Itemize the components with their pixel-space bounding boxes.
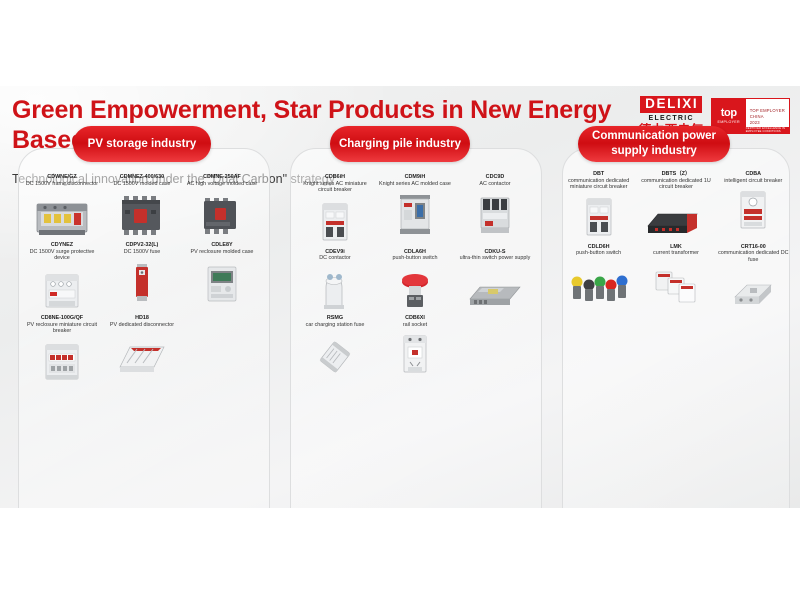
product-caption: CDPV2-32(L) DC 1500V fuse xyxy=(124,242,161,255)
product-code: CDB6iH xyxy=(297,174,373,181)
product-code: CDLA6H xyxy=(393,249,438,256)
product-grid-communication-power: DBT communication dedicated miniature ci… xyxy=(560,171,792,317)
mcb-2pole-icon xyxy=(318,197,352,245)
molded-case-gray-icon xyxy=(395,190,435,238)
product-card[interactable]: CDB6XI rail socket xyxy=(375,315,455,377)
product-card[interactable]: CDMNE-250AF AC high voltage molded case xyxy=(182,174,262,238)
pv-fuse-icon xyxy=(128,258,156,304)
product-desc: communication dedicated 1U circuit break… xyxy=(641,178,711,191)
product-code: CDPV2-32(L) xyxy=(124,242,161,249)
product-card[interactable]: CDC9D AC contactor xyxy=(455,174,535,245)
product-code: HD18 xyxy=(110,315,174,322)
product-code: CDMNE-250AF xyxy=(187,174,257,181)
product-desc: DC 1500V surge protective device xyxy=(30,249,95,262)
product-desc: communication dedicated miniature circui… xyxy=(568,178,629,191)
product-caption: CDLE8Y PV reclosure molded case xyxy=(191,242,254,255)
mcb-4pole-icon xyxy=(39,338,85,384)
product-code: CRT16-00 xyxy=(717,244,790,251)
cylindrical-fuse-icon xyxy=(315,331,355,377)
product-desc: DC 1500V fuse xyxy=(124,249,161,255)
product-card[interactable]: CDWNE/GZ DC 1500V frame disconnector xyxy=(22,174,102,238)
product-code: CDWNE/GZ xyxy=(26,174,98,181)
product-card[interactable]: CDBA intelligent circuit breaker xyxy=(715,171,792,240)
product-desc: push-button switch xyxy=(393,255,438,261)
product-card[interactable]: CDMNEZ-400/630 DC 1500V molded case xyxy=(102,174,182,238)
product-card[interactable]: CDLE8Y PV reclosure molded case xyxy=(182,242,262,311)
product-desc: current transformer xyxy=(653,250,699,256)
product-caption: CRT16-00 communication dedicated DC fuse xyxy=(717,244,790,264)
product-caption: CDWNE/GZ DC 1500V frame disconnector xyxy=(26,174,98,187)
section-header-communication-power[interactable]: Communication power supply industry xyxy=(578,126,730,162)
badge-top-text: top xyxy=(721,108,737,119)
product-grid-charging-pile: CDB6iH Knight series AC miniature circui… xyxy=(295,174,535,381)
product-desc: Knight series AC miniature circuit break… xyxy=(303,181,367,194)
product-caption: CDLA6H push-button switch xyxy=(393,249,438,262)
product-card[interactable]: CDYNEZ DC 1500V surge protective device xyxy=(22,242,102,311)
product-desc: rail socket xyxy=(403,322,427,328)
hd18-disconnector-icon xyxy=(114,331,170,377)
product-code: CDC9D xyxy=(479,174,510,181)
product-caption: LMK current transformer xyxy=(653,244,699,257)
molded-case-dark2-icon xyxy=(199,190,245,238)
product-code: CDEV9i xyxy=(319,249,350,256)
product-caption: CDYNEZ DC 1500V surge protective device xyxy=(24,242,100,262)
product-card[interactable]: RSMG car charging station fuse xyxy=(295,315,375,377)
product-caption: CDLD6H push-button switch xyxy=(576,244,621,257)
product-desc: Knight series AC molded case xyxy=(379,181,451,187)
product-caption: CDB6XI rail socket xyxy=(403,315,427,328)
current-transformer-icon xyxy=(652,260,700,306)
product-code: CDB6XI xyxy=(403,315,427,322)
product-card[interactable]: HD18 PV dedicated disconnector xyxy=(102,315,182,384)
section-header-pv-storage[interactable]: PV storage industry xyxy=(73,126,211,162)
product-card[interactable]: LMK current transformer xyxy=(637,244,714,313)
section-header-charging-pile[interactable]: Charging pile industry xyxy=(330,126,470,162)
product-code: RSMG xyxy=(306,315,365,322)
power-supply-icon xyxy=(466,265,524,311)
indicator-lamps-icon xyxy=(568,260,630,306)
product-caption: CDBA intelligent circuit breaker xyxy=(724,171,782,184)
industry-panels: PV storage industry Charging pile indust… xyxy=(0,126,800,508)
product-code: CDLE8Y xyxy=(191,242,254,249)
product-desc: communication dedicated DC fuse xyxy=(718,250,788,263)
product-code: CD8NE-100G/QF xyxy=(24,315,100,322)
rack-1u-breaker-icon xyxy=(645,194,707,240)
ac-contactor-icon xyxy=(473,190,517,238)
product-card[interactable]: CDKU-S ultra-thin switch power supply xyxy=(455,249,535,311)
product-caption: CDC9D AC contactor xyxy=(479,174,510,187)
frame-disconnector-icon xyxy=(33,190,91,238)
product-card[interactable]: DBT communication dedicated miniature ci… xyxy=(560,171,637,240)
product-desc: intelligent circuit breaker xyxy=(724,178,782,184)
product-desc: PV reclosure molded case xyxy=(191,249,254,255)
product-desc: AC high voltage molded case xyxy=(187,181,257,187)
smart-breaker-icon xyxy=(736,187,770,233)
product-code: CDMNEZ-400/630 xyxy=(114,174,171,181)
badge-line-1: TOP EMPLOYER xyxy=(750,108,785,113)
mushroom-button-icon xyxy=(397,265,433,311)
product-card[interactable]: CDPV2-32(L) DC 1500V fuse xyxy=(102,242,182,311)
product-desc: car charging station fuse xyxy=(306,322,365,328)
product-desc: DC 1500V frame disconnector xyxy=(26,181,98,187)
mcb-2pole-b-icon xyxy=(582,194,616,240)
product-desc: AC contactor xyxy=(479,181,510,187)
delixi-wordmark: DELIXI xyxy=(640,96,702,113)
product-desc: DC contactor xyxy=(319,255,350,261)
slide-canvas: Green Empowerment, Star Products in New … xyxy=(0,86,800,508)
product-card[interactable]: CDM9iH Knight series AC molded case xyxy=(375,174,455,245)
rail-socket-icon xyxy=(397,331,433,377)
product-code: CDBA xyxy=(724,171,782,178)
product-caption: DBT communication dedicated miniature ci… xyxy=(562,171,635,191)
product-card[interactable]: CDLA6H push-button switch xyxy=(375,249,455,311)
product-desc: PV reclosure miniature circuit breaker xyxy=(27,322,97,335)
product-code: LMK xyxy=(653,244,699,251)
reclosure-molded-icon xyxy=(202,258,242,304)
badge-line-2: CHINA xyxy=(750,114,785,119)
product-caption: CDMNEZ-400/630 DC 1500V molded case xyxy=(114,174,171,187)
product-code: CDLD6H xyxy=(576,244,621,251)
badge-line-3: 2023 xyxy=(750,120,785,125)
product-card[interactable]: DBTS（Z） communication dedicated 1U circu… xyxy=(637,171,714,240)
product-code: DBT xyxy=(562,171,635,178)
product-card[interactable]: CD8NE-100G/QF PV reclosure miniature cir… xyxy=(22,315,102,384)
badge-employer-text: EMPLOYER xyxy=(718,121,740,125)
product-caption: CDM9iH Knight series AC molded case xyxy=(379,174,451,187)
product-desc: DC 1500V molded case xyxy=(114,181,171,187)
surge-protector-icon xyxy=(38,265,86,311)
product-caption: DBTS（Z） communication dedicated 1U circu… xyxy=(639,171,712,191)
product-desc: ultra-thin switch power supply xyxy=(460,255,531,261)
product-grid-pv-storage: CDWNE/GZ DC 1500V frame disconnector xyxy=(22,174,262,388)
product-caption: CDKU-S ultra-thin switch power supply xyxy=(460,249,531,262)
product-caption: RSMG car charging station fuse xyxy=(306,315,365,328)
product-caption: CDB6iH Knight series AC miniature circui… xyxy=(297,174,373,194)
product-caption: CD8NE-100G/QF PV reclosure miniature cir… xyxy=(24,315,100,335)
product-card[interactable]: CDLD6H push-button switch xyxy=(560,244,637,313)
molded-case-dark-icon xyxy=(117,190,167,238)
product-caption: CDMNE-250AF AC high voltage molded case xyxy=(187,174,257,187)
dc-contactor-icon xyxy=(314,265,356,311)
product-card[interactable]: CRT16-00 communication dedicated DC fuse xyxy=(715,244,792,313)
dc-fuse-block-icon xyxy=(729,267,777,313)
product-desc: PV dedicated disconnector xyxy=(110,322,174,328)
product-code: CDKU-S xyxy=(460,249,531,256)
delixi-subtext: ELECTRIC xyxy=(648,115,693,122)
product-desc: push-button switch xyxy=(576,250,621,256)
product-code: CDM9iH xyxy=(379,174,451,181)
product-caption: CDEV9i DC contactor xyxy=(319,249,350,262)
product-code: DBTS（Z） xyxy=(639,171,712,178)
product-code: CDYNEZ xyxy=(24,242,100,249)
product-card[interactable]: CDEV9i DC contactor xyxy=(295,249,375,311)
product-card[interactable]: CDB6iH Knight series AC miniature circui… xyxy=(295,174,375,245)
product-caption: HD18 PV dedicated disconnector xyxy=(110,315,174,328)
